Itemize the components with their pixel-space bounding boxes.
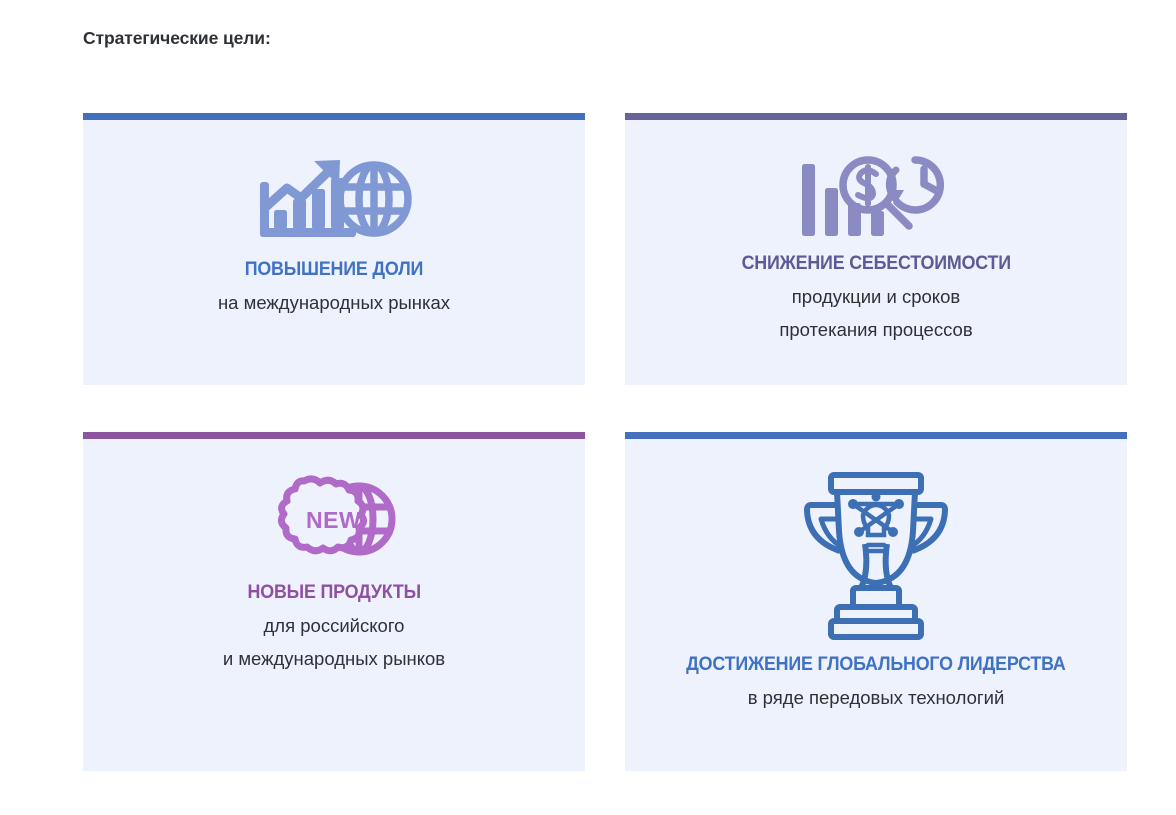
goal-cards-grid: ПОВЫШЕНИЕ ДОЛИ на международных рынках: [83, 113, 1127, 771]
card-subtitle-line: протекания процессов: [779, 314, 972, 346]
strategic-goals-page: Стратегические цели:: [0, 0, 1176, 815]
new-badge-globe-icon: NEW: [259, 473, 409, 565]
card-body: NEW НОВЫЕ ПРОДУКТЫ для российского и меж…: [83, 439, 585, 771]
card-subtitle-line: и международных рынков: [223, 643, 445, 675]
card-accent-bar: [83, 432, 585, 439]
card-subtitle-line: продукции и сроков: [779, 281, 972, 313]
card-body: ДОСТИЖЕНИЕ ГЛОБАЛЬНОГО ЛИДЕРСТВА в ряде …: [625, 439, 1127, 771]
card-subtitle-line: в ряде передовых технологий: [748, 682, 1005, 714]
card-subtitle: в ряде передовых технологий: [734, 682, 1019, 714]
card-title: СНИЖЕНИЕ СЕБЕСТОИМОСТИ: [741, 252, 1010, 275]
card-body: ПОВЫШЕНИЕ ДОЛИ на международных рынках: [83, 120, 585, 385]
card-title-line: ГЛОБАЛЬНОГО ЛИДЕРСТВА: [818, 654, 1066, 675]
declining-bars-dollar-magnifier-clock-icon: [796, 156, 956, 242]
growth-chart-globe-icon: [254, 152, 414, 244]
card-subtitle: продукции и сроков протекания процессов: [765, 281, 986, 346]
card-body: СНИЖЕНИЕ СЕБЕСТОИМОСТИ продукции и сроко…: [625, 120, 1127, 385]
goal-card-global-leadership[interactable]: ДОСТИЖЕНИЕ ГЛОБАЛЬНОГО ЛИДЕРСТВА в ряде …: [625, 432, 1127, 771]
card-title: ПОВЫШЕНИЕ ДОЛИ: [245, 258, 423, 281]
card-title: ДОСТИЖЕНИЕ ГЛОБАЛЬНОГО ЛИДЕРСТВА: [686, 653, 1066, 676]
goal-card-cost-reduction[interactable]: СНИЖЕНИЕ СЕБЕСТОИМОСТИ продукции и сроко…: [625, 113, 1127, 385]
svg-text:NEW: NEW: [306, 507, 361, 533]
card-subtitle-line: для российского: [223, 610, 445, 642]
card-subtitle: для российского и международных рынков: [209, 610, 459, 675]
card-accent-bar: [83, 113, 585, 120]
card-accent-bar: [625, 432, 1127, 439]
card-title: НОВЫЕ ПРОДУКТЫ: [247, 581, 420, 604]
trophy-molecule-icon: [801, 469, 951, 641]
card-title-line: ДОСТИЖЕНИЕ: [686, 654, 813, 675]
card-subtitle-line: на международных рынках: [218, 287, 450, 319]
card-accent-bar: [625, 113, 1127, 120]
page-title: Стратегические цели:: [83, 28, 271, 49]
goal-card-new-products[interactable]: NEW НОВЫЕ ПРОДУКТЫ для российского и меж…: [83, 432, 585, 771]
card-subtitle: на международных рынках: [204, 287, 464, 319]
goal-card-market-share[interactable]: ПОВЫШЕНИЕ ДОЛИ на международных рынках: [83, 113, 585, 385]
